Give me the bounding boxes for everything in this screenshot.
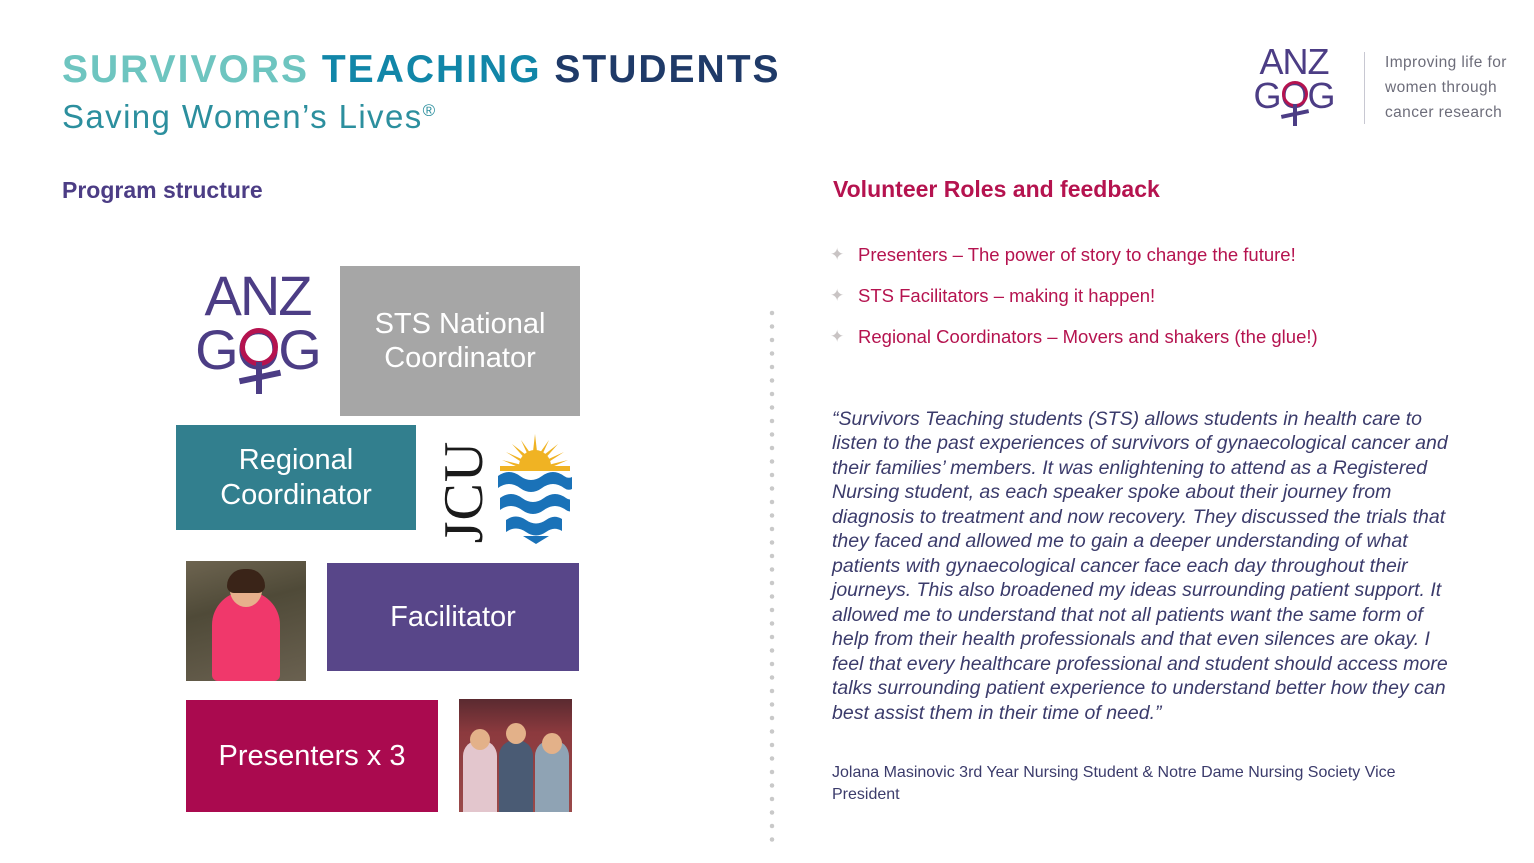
- jcu-logo: JCU: [432, 424, 580, 546]
- facilitator-photo: [186, 561, 306, 681]
- list-item-label: STS Facilitators – making it happen!: [858, 284, 1450, 307]
- presenters-photo-head-3: [542, 733, 562, 754]
- presenters-photo-person-1: [463, 740, 497, 812]
- list-item-label: Regional Coordinators – Movers and shake…: [858, 325, 1450, 348]
- volunteer-roles-list: ✦ Presenters – The power of story to cha…: [830, 243, 1450, 366]
- student-testimonial-attribution: Jolana Masinovic 3rd Year Nursing Studen…: [832, 762, 1432, 806]
- regional-coordinator-box: Regional Coordinator: [176, 425, 416, 530]
- sparkle-bullet-icon: ✦: [830, 284, 858, 306]
- list-item: ✦ Regional Coordinators – Movers and sha…: [830, 325, 1450, 348]
- anzgog-diagram-line-1: ANZ: [176, 268, 339, 324]
- sts-national-coordinator-box: STS National Coordinator: [340, 266, 580, 416]
- sparkle-bullet-icon: ✦: [830, 243, 858, 265]
- presenters-photo-head-2: [506, 723, 526, 744]
- venus-symbol-icon: [240, 328, 278, 366]
- presenters-box: Presenters x 3: [186, 700, 438, 812]
- jcu-logo-text: JCU: [436, 440, 492, 544]
- sparkle-bullet-icon: ✦: [830, 325, 858, 347]
- jcu-crest-icon: [490, 426, 580, 544]
- facilitator-box: Facilitator: [327, 563, 579, 671]
- program-structure-diagram: ANZ GOG STS National Coordinator Regiona…: [0, 0, 770, 863]
- presenters-photo-person-2: [499, 740, 533, 812]
- facilitator-photo-hair: [227, 569, 265, 593]
- presenters-photo-head-1: [470, 729, 490, 750]
- list-item: ✦ STS Facilitators – making it happen!: [830, 284, 1450, 307]
- list-item: ✦ Presenters – The power of story to cha…: [830, 243, 1450, 266]
- volunteer-roles-panel: ✦ Presenters – The power of story to cha…: [830, 0, 1470, 863]
- anzgog-diagram-logo: ANZ GOG: [176, 266, 339, 408]
- student-testimonial-quote: “Survivors Teaching students (STS) allow…: [832, 407, 1450, 725]
- presenters-photo: [459, 699, 572, 812]
- list-item-label: Presenters – The power of story to chang…: [858, 243, 1450, 266]
